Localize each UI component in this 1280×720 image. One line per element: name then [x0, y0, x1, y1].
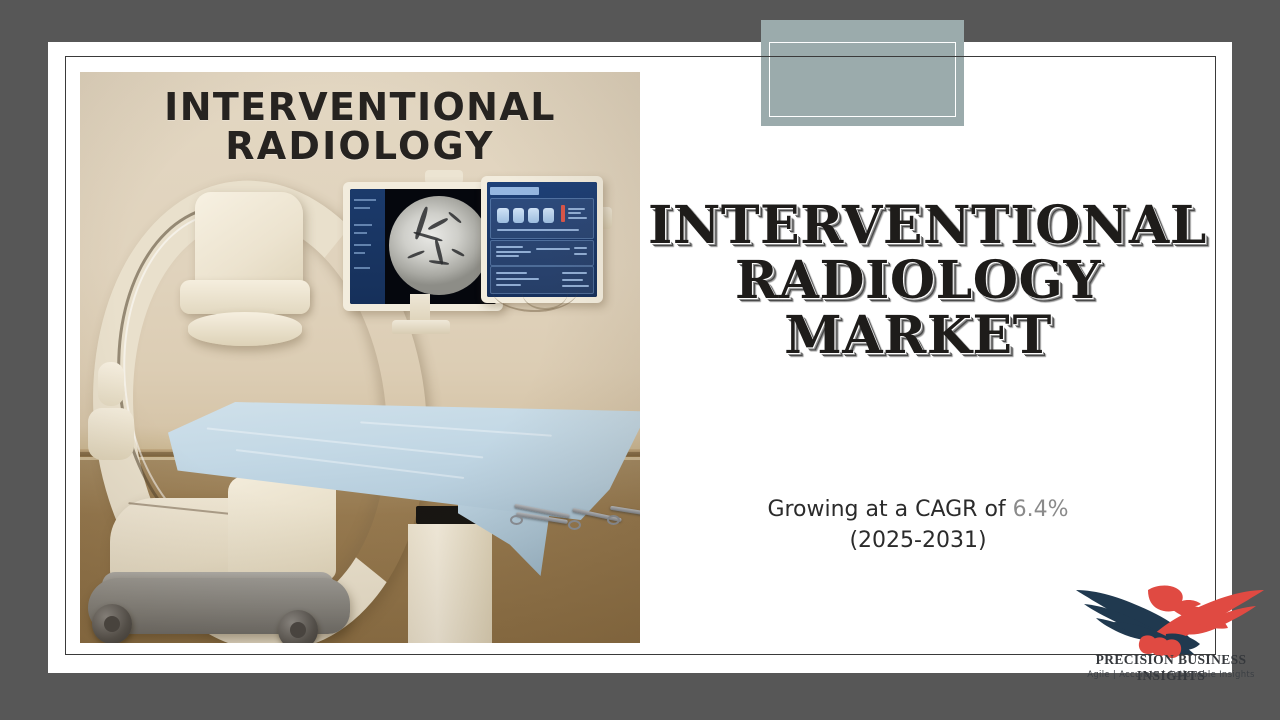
page-title: INTERVENTIONAL RADIOLOGY MARKET: [648, 198, 1188, 363]
photo-overlay-title: INTERVENTIONAL RADIOLOGY: [80, 88, 640, 166]
eagle-handshake-svg: [1070, 574, 1270, 658]
page-title-line1: INTERVENTIONAL: [648, 198, 1188, 253]
page-title-line3: MARKET: [648, 308, 1188, 363]
cagr-value: 6.4%: [1013, 497, 1069, 522]
photo-overlay-title-line2: RADIOLOGY: [80, 127, 640, 166]
eagle-handshake-icon: [1070, 574, 1270, 658]
photo-overlay-title-line1: INTERVENTIONAL: [164, 85, 556, 129]
page-title-line2: RADIOLOGY: [648, 253, 1188, 308]
forecast-period: (2025-2031): [648, 525, 1188, 556]
company-tagline: Agile | Accurate | Actionable Insights: [1062, 670, 1280, 680]
company-logo: PRECISION BUSINESS INSIGHTS Agile | Accu…: [1062, 574, 1280, 694]
slide-canvas: INTERVENTIONAL RADIOLOGY INTERVENTIONAL …: [0, 0, 1280, 720]
hero-photo: INTERVENTIONAL RADIOLOGY: [80, 72, 640, 643]
cagr-prefix: Growing at a CAGR of: [767, 497, 1012, 522]
cagr-subtitle: Growing at a CAGR of 6.4% (2025-2031): [648, 494, 1188, 556]
accent-block: [761, 20, 964, 126]
